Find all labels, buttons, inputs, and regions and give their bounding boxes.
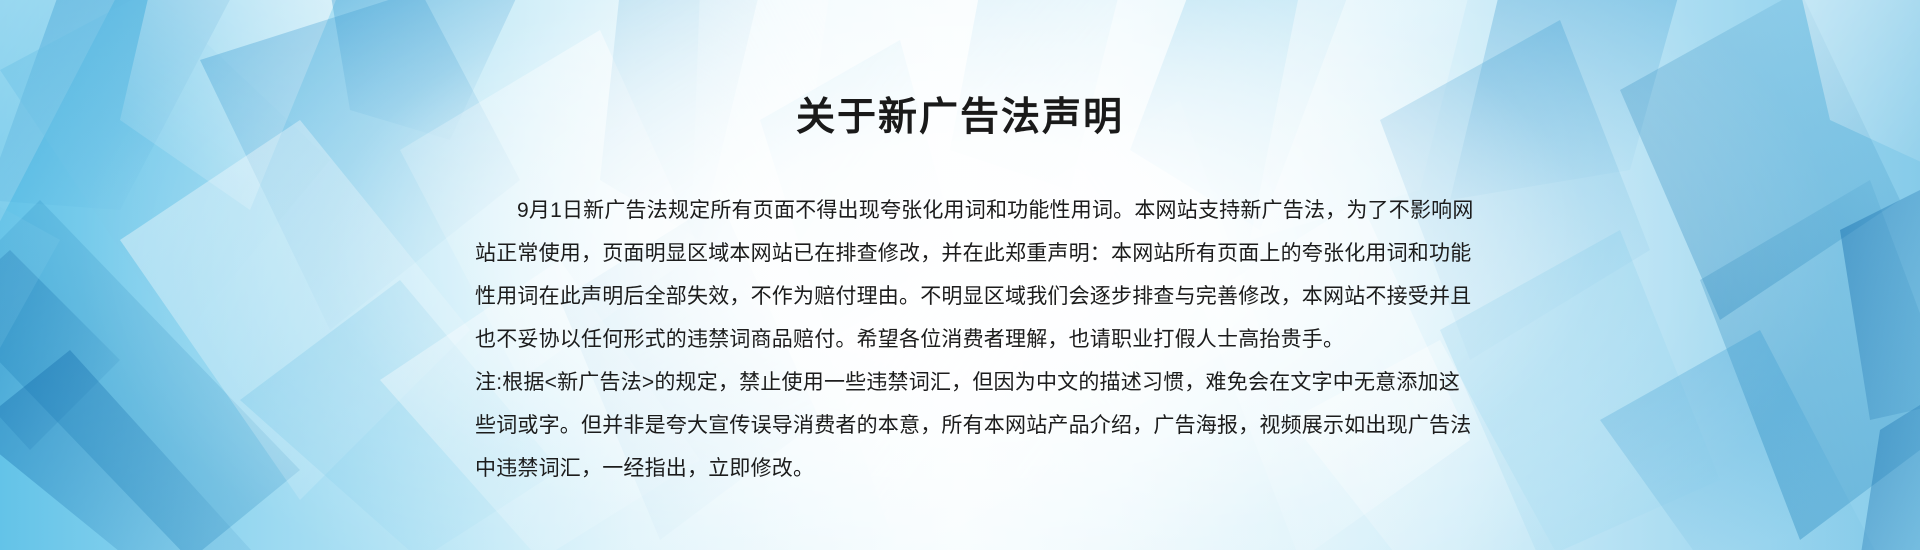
statement-line: 些词或字。但并非是夸大宣传误导消费者的本意，所有本网站产品介绍，广告海报，视频展… bbox=[475, 404, 1445, 447]
statement-body: 9月1日新广告法规定所有页面不得出现夸张化用词和功能性用词。本网站支持新广告法，… bbox=[475, 189, 1445, 490]
statement-line: 性用词在此声明后全部失效，不作为赔付理由。不明显区域我们会逐步排查与完善修改，本… bbox=[475, 275, 1445, 318]
statement-line: 9月1日新广告法规定所有页面不得出现夸张化用词和功能性用词。本网站支持新广告法，… bbox=[475, 189, 1445, 232]
page-title: 关于新广告法声明 bbox=[796, 98, 1124, 137]
banner-content: 关于新广告法声明 9月1日新广告法规定所有页面不得出现夸张化用词和功能性用词。本… bbox=[0, 0, 1920, 550]
advertising-law-statement-banner: 关于新广告法声明 9月1日新广告法规定所有页面不得出现夸张化用词和功能性用词。本… bbox=[0, 0, 1920, 550]
statement-paragraph-1: 9月1日新广告法规定所有页面不得出现夸张化用词和功能性用词。本网站支持新广告法，… bbox=[475, 189, 1445, 361]
statement-line: 中违禁词汇，一经指出，立即修改。 bbox=[475, 447, 1445, 490]
statement-line: 注:根据<新广告法>的规定，禁止使用一些违禁词汇，但因为中文的描述习惯，难免会在… bbox=[475, 361, 1445, 404]
statement-paragraph-2: 注:根据<新广告法>的规定，禁止使用一些违禁词汇，但因为中文的描述习惯，难免会在… bbox=[475, 361, 1445, 490]
statement-line: 也不妥协以任何形式的违禁词商品赔付。希望各位消费者理解，也请职业打假人士高抬贵手… bbox=[475, 318, 1445, 361]
statement-line: 站正常使用，页面明显区域本网站已在排查修改，并在此郑重声明：本网站所有页面上的夸… bbox=[475, 232, 1445, 275]
